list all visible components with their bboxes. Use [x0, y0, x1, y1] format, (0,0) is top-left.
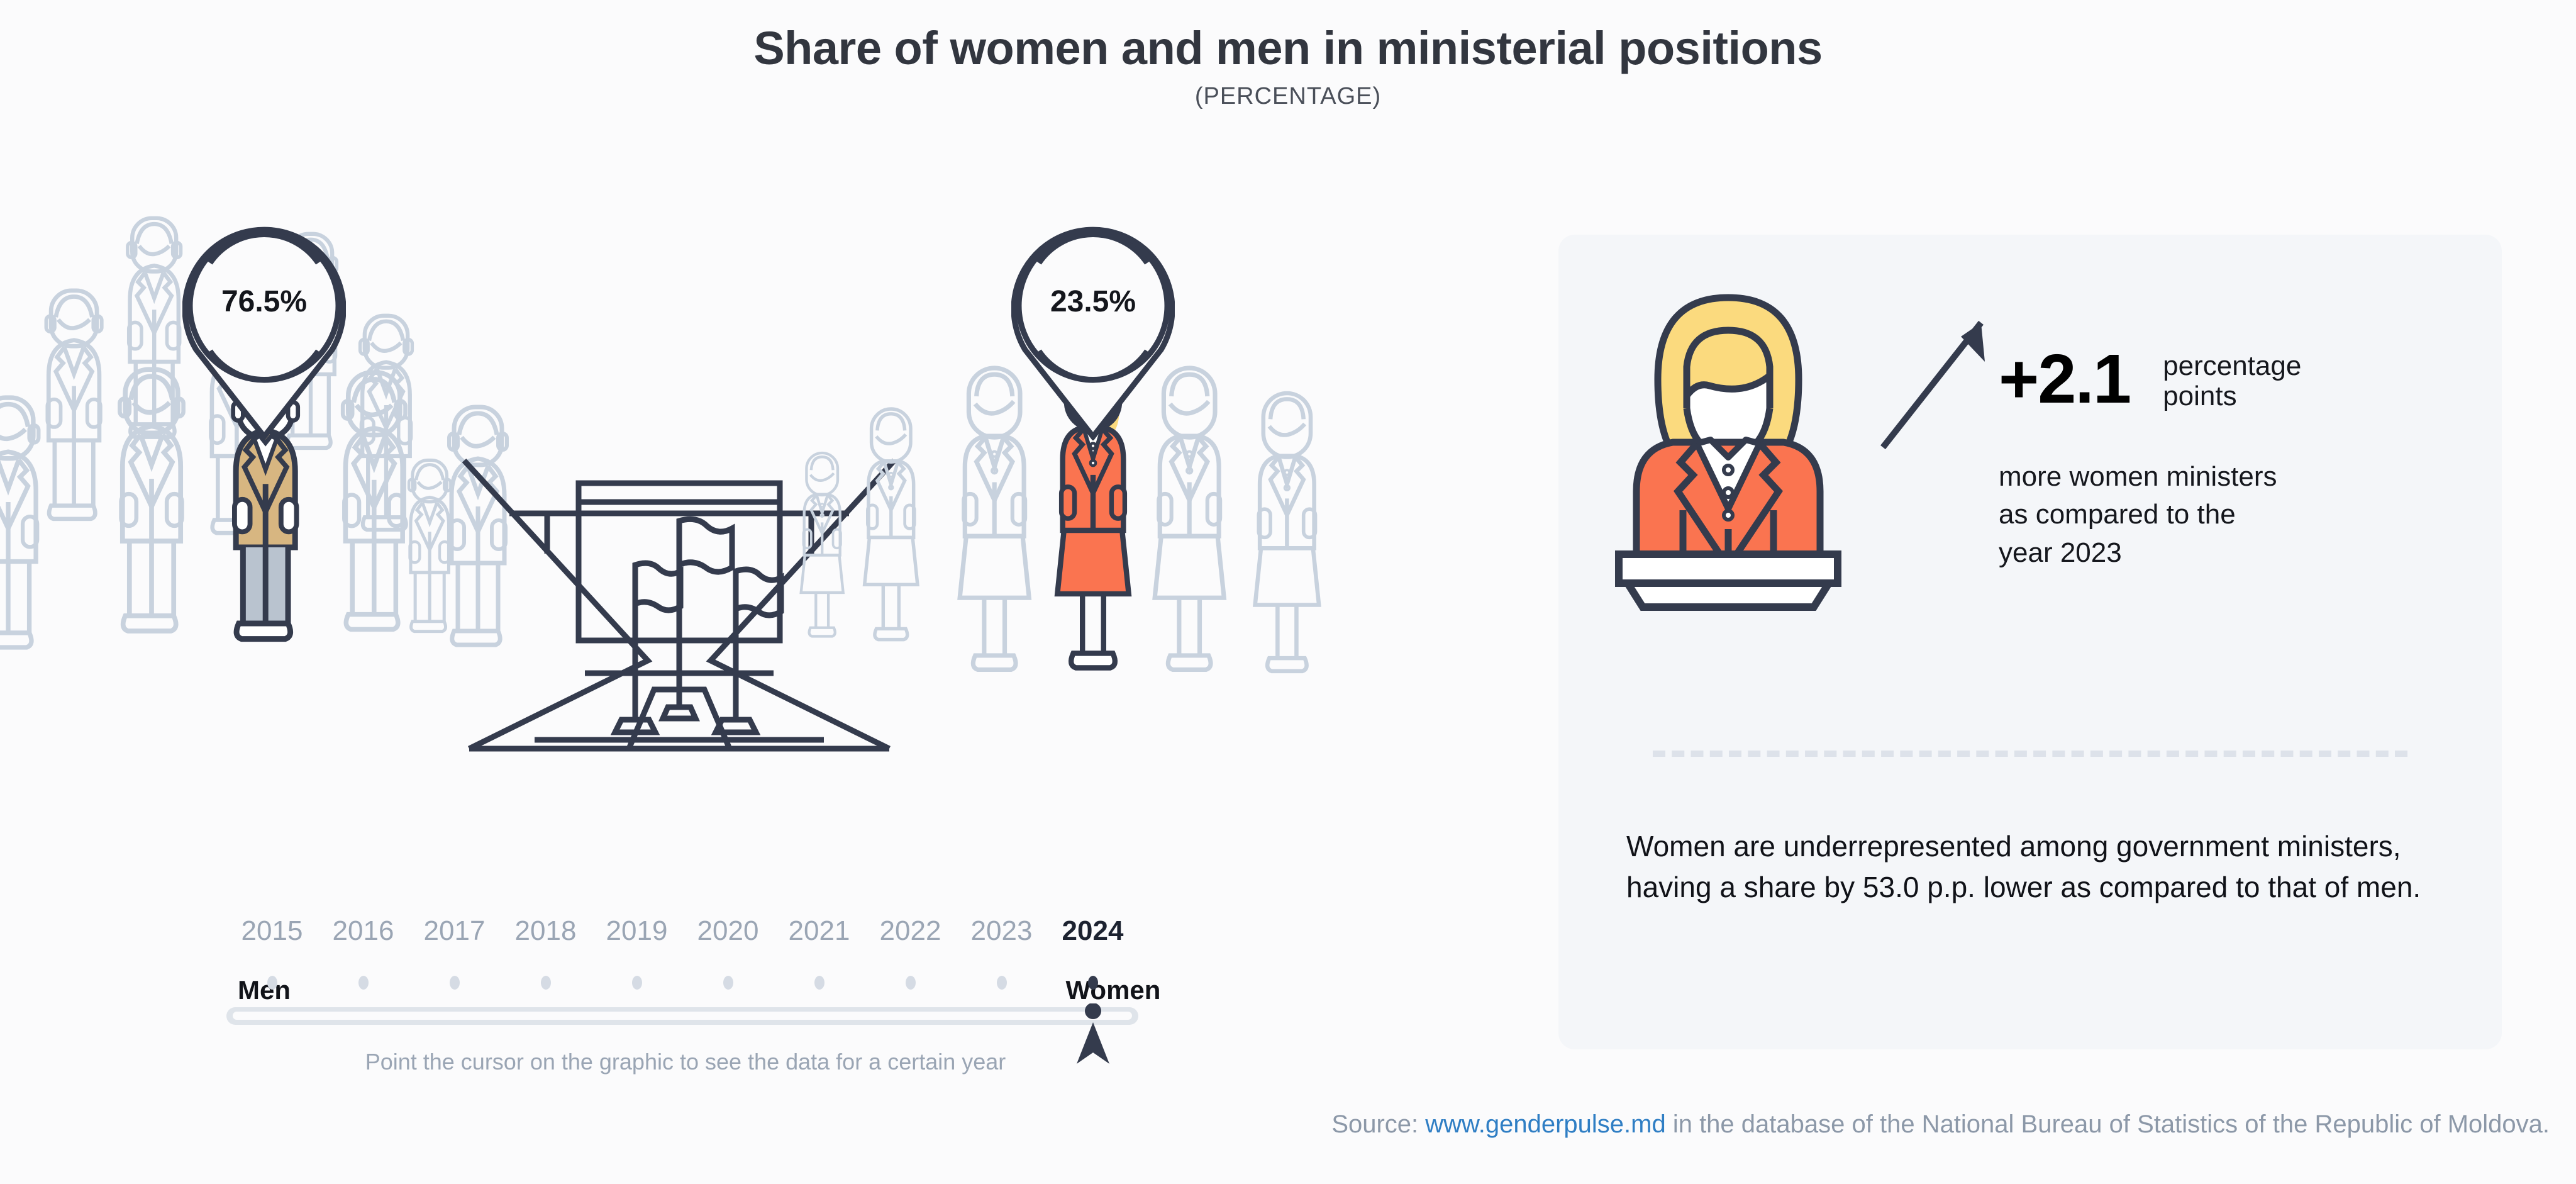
insight-card: +2.1 percentagepoints more women ministe… [1558, 235, 2502, 1049]
men-share-pin: 76.5% [182, 214, 346, 440]
year-dot-list [208, 976, 1163, 991]
insight-note: Women are underrepresented among governm… [1626, 826, 2463, 908]
year-label-2016[interactable]: 2016 [333, 915, 394, 947]
insight-card-top: +2.1 percentagepoints more women ministe… [1558, 272, 2502, 625]
year-dot-2023[interactable] [997, 976, 1007, 990]
slider-hint-text: Point the cursor on the graphic to see t… [208, 1049, 1163, 1075]
year-label-2022[interactable]: 2022 [880, 915, 941, 947]
year-dot-2019[interactable] [632, 976, 642, 990]
women-share-pin: 23.5% [1011, 214, 1175, 440]
year-label-2019[interactable]: 2019 [606, 915, 668, 947]
year-label-2015[interactable]: 2015 [241, 915, 303, 947]
year-slider[interactable]: 2015201620172018201920202021202220232024… [208, 915, 1163, 1066]
trend-up-arrow-icon [1873, 304, 1999, 455]
year-dot-2021[interactable] [814, 976, 824, 990]
page-title: Share of women and men in ministerial po… [0, 24, 2576, 73]
delta-description: more women ministersas compared to theye… [1999, 458, 2477, 572]
footer-prefix: Source: [1331, 1110, 1425, 1138]
delta-value: +2.1 [1999, 345, 2130, 414]
figures-panel: 76.5% 23.5% Men Women [0, 189, 1522, 1019]
year-dot-2018[interactable] [541, 976, 551, 990]
year-dot-2016[interactable] [358, 976, 369, 990]
header: Share of women and men in ministerial po… [0, 24, 2576, 110]
year-label-2023[interactable]: 2023 [971, 915, 1033, 947]
year-dot-2024[interactable] [1088, 976, 1098, 990]
year-dot-2020[interactable] [723, 976, 733, 990]
slider-track[interactable] [226, 1007, 1138, 1025]
delta-unit: percentagepoints [2163, 351, 2301, 412]
card-divider [1653, 751, 2407, 757]
year-label-list: 2015201620172018201920202021202220232024 [208, 915, 1163, 959]
delta-row: +2.1 percentagepoints [1999, 345, 2489, 414]
page-subtitle: (PERCENTAGE) [0, 83, 2576, 110]
year-label-2017[interactable]: 2017 [424, 915, 486, 947]
source-link[interactable]: www.genderpulse.md [1425, 1110, 1665, 1138]
year-label-2024[interactable]: 2024 [1062, 915, 1124, 947]
men-share-value: 76.5% [182, 284, 346, 319]
year-label-2021[interactable]: 2021 [789, 915, 850, 947]
year-dot-2015[interactable] [267, 976, 277, 990]
woman-speaker-icon [1609, 285, 1848, 612]
year-dot-2017[interactable] [450, 976, 460, 990]
year-dot-2022[interactable] [906, 976, 916, 990]
source-footer: Source: www.genderpulse.md in the databa… [0, 1110, 2576, 1139]
women-share-value: 23.5% [1011, 284, 1175, 319]
year-label-2020[interactable]: 2020 [697, 915, 759, 947]
footer-suffix: in the database of the National Bureau o… [1666, 1110, 2550, 1138]
year-label-2018[interactable]: 2018 [515, 915, 577, 947]
